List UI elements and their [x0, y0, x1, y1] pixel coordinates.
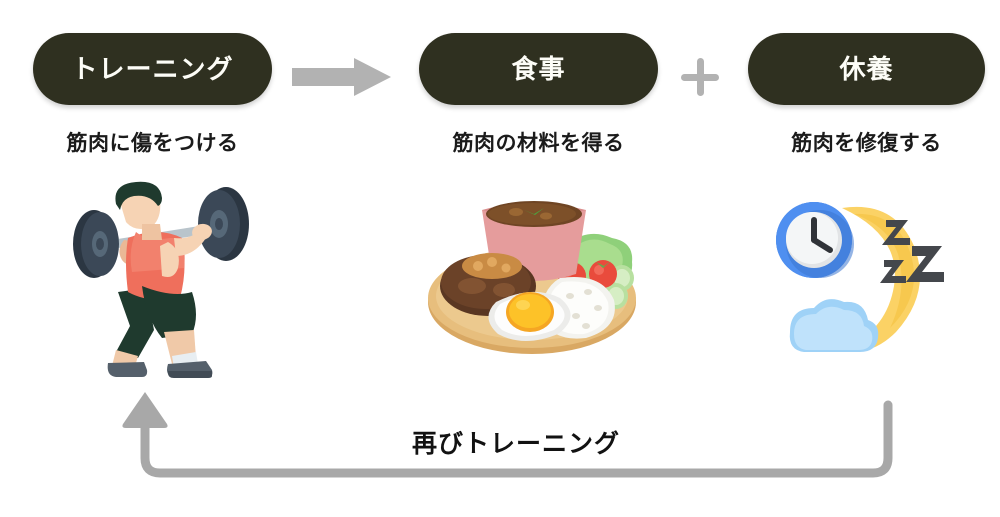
step-caption-rest: 筋肉を修復する [748, 131, 985, 156]
plus-icon [679, 56, 721, 98]
plus-icon-vertical-bar [697, 58, 704, 96]
meal-plate-icon [420, 192, 646, 360]
step-pill-label-meal: 食事 [511, 56, 565, 82]
step-pill-training[interactable]: トレーニング [33, 33, 272, 105]
step-pill-label-rest: 休養 [839, 56, 893, 82]
infographic-canvas: トレーニング 筋肉に傷をつける 食事 筋肉の材料を得る 休養 筋肉を修復する [0, 0, 1000, 517]
weightlifter-squat-icon [50, 180, 270, 380]
arrow-right-icon [292, 56, 392, 98]
step-pill-rest[interactable]: 休養 [748, 33, 985, 105]
moon-clock-sleep-icon [768, 198, 950, 362]
step-pill-meal[interactable]: 食事 [419, 33, 658, 105]
step-pill-label-training: トレーニング [71, 56, 233, 82]
step-caption-meal: 筋肉の材料を得る [419, 131, 658, 156]
loop-label: 再びトレーニング [330, 424, 702, 460]
step-caption-training: 筋肉に傷をつける [33, 131, 272, 156]
